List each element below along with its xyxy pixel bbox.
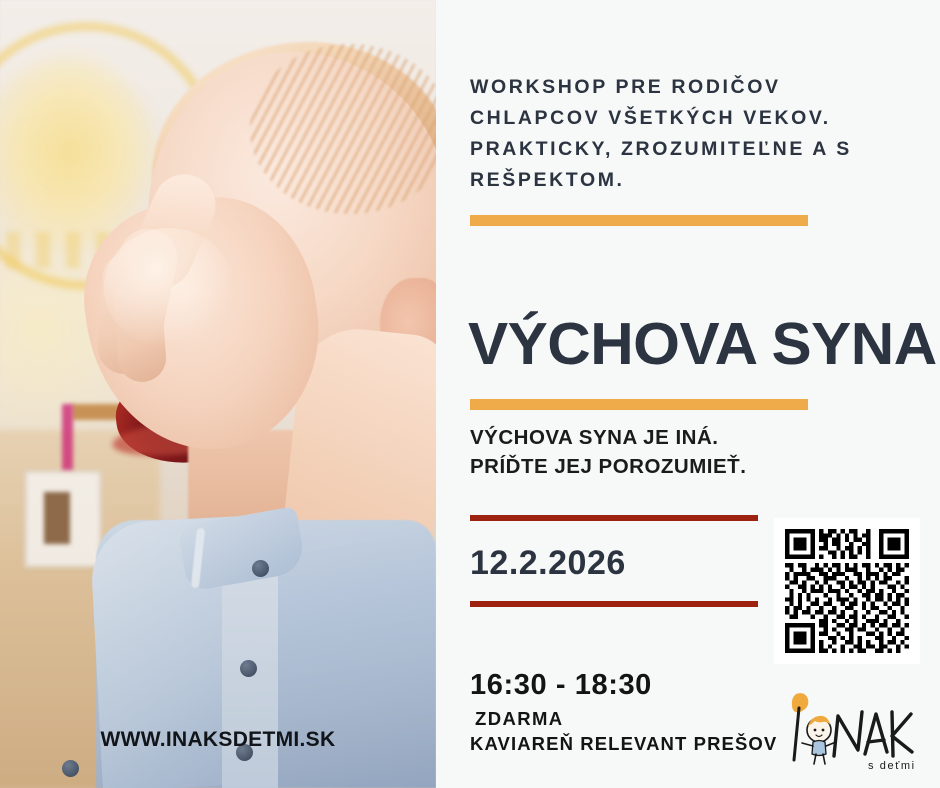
orange-divider-bottom xyxy=(470,399,808,410)
hero-photo: WWW.INAKSDETMI.SK xyxy=(0,0,436,788)
red-divider-below-date xyxy=(470,601,758,607)
event-time: 16:30 - 18:30 xyxy=(470,669,652,702)
website-url: WWW.INAKSDETMI.SK xyxy=(0,728,436,752)
content-panel: WORKSHOP PRE RODIČOV CHLAPCOV VŠETKÝCH V… xyxy=(436,0,940,788)
qr-code-card[interactable] xyxy=(774,518,920,664)
poster: WWW.INAKSDETMI.SK WORKSHOP PRE RODIČOV C… xyxy=(0,0,940,788)
subtitle-text: VÝCHOVA SYNA JE INÁ.PRÍĎTE JEJ POROZUMIE… xyxy=(470,423,910,481)
red-divider-above-date xyxy=(470,515,758,521)
event-price: ZDARMA xyxy=(475,708,564,730)
event-venue: KAVIAREŇ RELEVANT PREŠOV xyxy=(470,733,777,755)
page-title: VÝCHOVA SYNA xyxy=(468,313,937,375)
photo-overlay xyxy=(0,0,436,788)
kicker-text: WORKSHOP PRE RODIČOV CHLAPCOV VŠETKÝCH V… xyxy=(470,72,900,196)
brand-logo[interactable]: s deťmi xyxy=(772,686,922,772)
orange-divider-top xyxy=(470,215,808,226)
logo-tagline: s deťmi xyxy=(868,760,916,772)
qr-code-icon xyxy=(785,529,909,653)
inak-logo-icon: s deťmi xyxy=(772,686,922,772)
event-date: 12.2.2026 xyxy=(470,544,626,583)
